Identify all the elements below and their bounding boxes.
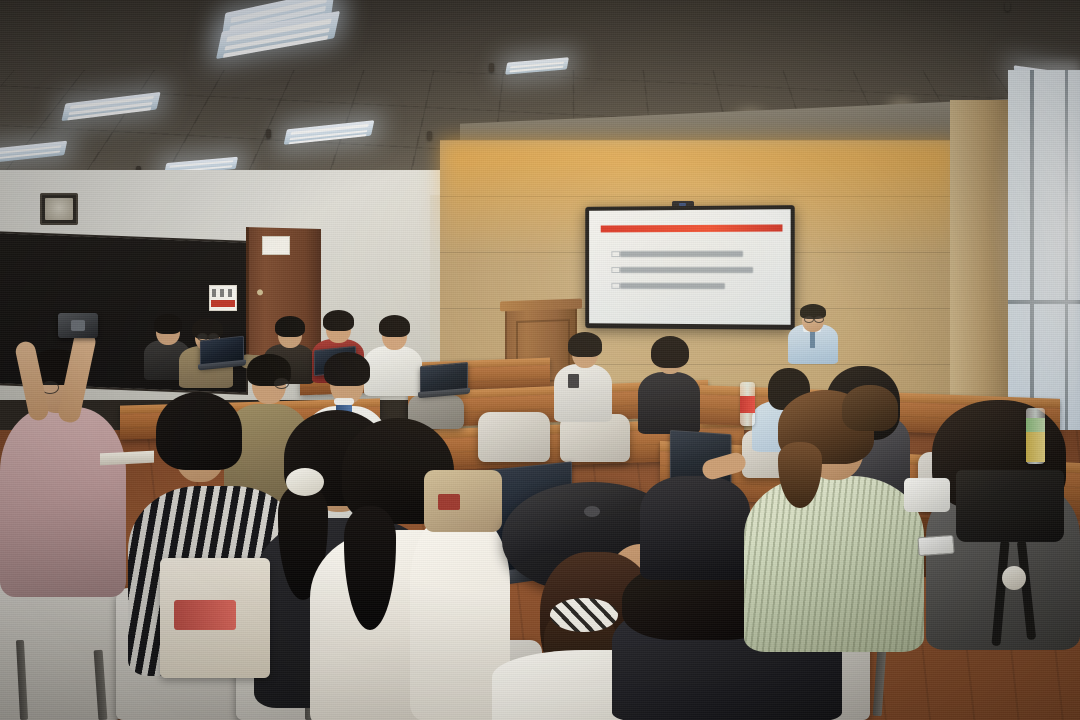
audience-member [638,334,700,430]
door-notice-sign [262,236,290,255]
audience-member-rear-right [836,385,902,449]
photo-scene: three blurred lines of Chinese text, ill… [0,0,1080,720]
torso [554,364,612,422]
water-bottle-red-label [740,382,755,426]
slide-bullet-icon [612,283,620,289]
tote-bag-print [174,600,236,630]
presenter-glasses-icon [814,316,824,323]
glasses-icon [274,378,289,389]
tote-bag [160,558,270,678]
shirt-graphic [568,374,579,388]
hair [651,336,689,368]
torso [640,476,750,580]
presenter-glasses-icon [804,316,814,323]
bag-charm [1002,566,1026,590]
thermos-cup-lid [334,398,354,405]
sprinkler-head [489,63,494,72]
wall-clock-icon [40,193,78,225]
torso [744,476,924,652]
torso [638,372,700,434]
black-handbag [956,470,1064,542]
audience-member [554,330,612,416]
slide-text-line [621,283,725,289]
presenter-tie [810,330,815,348]
slide-accent-bar [601,224,782,232]
hair [379,315,410,337]
torso [0,407,126,597]
slide-bullet-icon [612,267,620,273]
hair [842,385,898,431]
audience-member-with-camera [0,345,140,605]
arm [700,450,748,481]
presenter [786,300,844,360]
camera-lens-icon [71,320,85,331]
sleeve-patch [438,494,460,510]
smartphone[interactable] [917,535,954,556]
sprinkler-head [1005,2,1010,11]
bottle-label [740,396,755,413]
wall-notice-sign [209,285,237,311]
hair [323,310,354,331]
presentation-slide: three blurred lines of Chinese text, ill… [589,209,791,325]
hair [156,392,242,470]
door-knob-icon[interactable] [257,289,263,295]
tissue-pack [904,478,950,512]
sleeve [424,470,502,532]
hair [568,332,602,357]
compact-camera[interactable] [58,313,98,338]
water-bottle-green-label [1026,408,1045,464]
sprinkler-head [427,131,432,140]
audience-member-tablet-user [640,448,750,578]
slide-text-line [621,267,754,273]
sprinkler-head [266,129,271,138]
wall-display[interactable]: three blurred lines of Chinese text, ill… [585,205,794,330]
hair-scrunchie [550,598,618,632]
beret-button-icon [584,506,600,517]
hair [324,352,370,386]
bottle-liquid [1026,432,1045,462]
hair [154,314,182,334]
bottle-label [1026,418,1045,432]
